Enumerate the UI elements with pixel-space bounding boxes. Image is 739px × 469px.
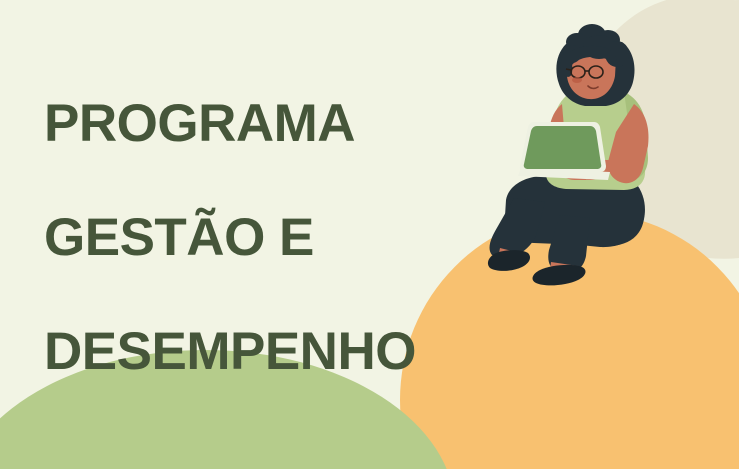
headline-line-3: DESEMPENHO (44, 323, 514, 380)
laptop-screen (524, 126, 602, 169)
program-banner: PROGRAMA GESTÃO E DESEMPENHO (0, 0, 739, 469)
headline-line-1: PROGRAMA (44, 95, 514, 152)
page-title: PROGRAMA GESTÃO E DESEMPENHO (44, 38, 514, 437)
cheek-blush (572, 77, 582, 83)
headline-line-2: GESTÃO E (44, 209, 514, 266)
